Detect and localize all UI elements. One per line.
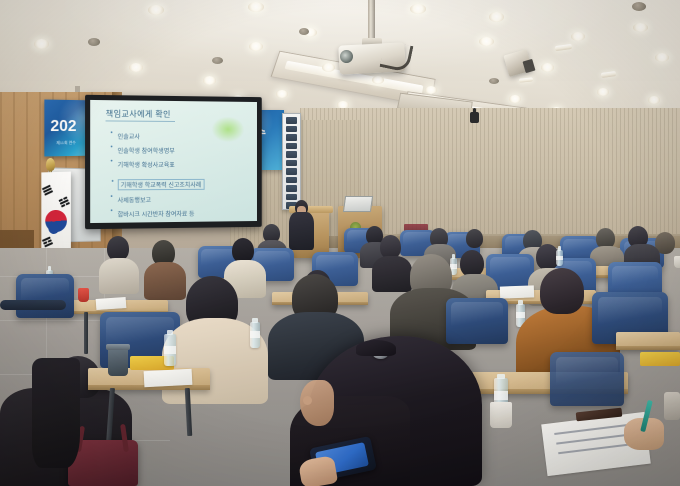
flag-finial bbox=[46, 158, 55, 171]
slide-bullet-list: 인솔교사 인솔학생 참여학생명부 기해학생 확성사교육표 기해학생 학교폭력 신… bbox=[118, 132, 248, 223]
ceiling-downlight bbox=[276, 90, 288, 98]
ceiling-downlight bbox=[372, 76, 384, 84]
attendee-body bbox=[372, 256, 412, 292]
water-bottle bbox=[164, 334, 176, 366]
chair-rail bbox=[0, 300, 66, 310]
ceiling-downlight bbox=[249, 42, 263, 51]
chair[interactable] bbox=[16, 274, 74, 318]
ceiling-downlight bbox=[541, 63, 554, 72]
attendee-head bbox=[540, 268, 584, 314]
cup-lid bbox=[106, 344, 130, 350]
ceiling-speaker bbox=[299, 28, 309, 35]
ceiling-speaker bbox=[212, 57, 223, 64]
ceiling-downlight bbox=[129, 63, 143, 72]
chair[interactable] bbox=[550, 352, 624, 406]
snack-pack bbox=[640, 352, 680, 366]
cup bbox=[674, 256, 680, 268]
tablet-desk bbox=[616, 332, 680, 350]
chair[interactable] bbox=[446, 298, 508, 344]
ceiling-downlight bbox=[203, 76, 216, 85]
slide-bullet: 인솔학생 참여학생명부 bbox=[118, 146, 248, 155]
paper-handout bbox=[144, 369, 193, 387]
ceiling-speaker bbox=[632, 2, 646, 11]
paper-handout bbox=[500, 285, 534, 298]
water-bottle bbox=[556, 250, 563, 266]
laptop bbox=[343, 196, 373, 212]
slide-bullet: 기해학생 확성사교육표 bbox=[118, 160, 248, 169]
attendee-head bbox=[466, 229, 483, 248]
paper-handout bbox=[96, 297, 127, 310]
slide-bullet: 사제동행보고 bbox=[118, 195, 248, 205]
attendee-body bbox=[144, 262, 186, 300]
attendee-head bbox=[460, 250, 484, 277]
ceiling-downlight bbox=[648, 96, 660, 104]
water-bottle bbox=[250, 322, 260, 348]
slide-bullet: 인솔교사 bbox=[118, 132, 248, 142]
trigram-gam-icon bbox=[59, 196, 71, 208]
ceiling-downlight bbox=[248, 2, 264, 12]
ceiling-downlight bbox=[633, 23, 648, 32]
ceiling-downlight bbox=[597, 88, 609, 96]
ear bbox=[303, 396, 312, 405]
ceiling-downlight bbox=[489, 12, 504, 22]
vertical-banner bbox=[282, 113, 301, 210]
taeguk-circle-icon bbox=[41, 206, 70, 236]
ceiling-downlight bbox=[148, 5, 164, 15]
slide-bullet: 기해학생 학교폭력 신고조치사례 bbox=[118, 179, 204, 190]
slide-title: 책임교사에게 확인 bbox=[106, 109, 171, 121]
ceiling-downlight bbox=[509, 95, 521, 103]
ceiling-downlight bbox=[655, 53, 669, 62]
ceiling-downlight bbox=[322, 63, 335, 72]
lecture-hall-photo: 202 제11회 연수 연수 안내 책임교사에게 확인 인솔교사 인솔학생 참여… bbox=[0, 0, 680, 486]
slide-bullet: 합바시크 시간반자 참여자료 등 bbox=[118, 209, 248, 219]
projection-screen: 책임교사에게 확인 인솔교사 인솔학생 참여학생명부 기해학생 확성사교육표 기… bbox=[90, 100, 257, 223]
ceiling-downlight bbox=[410, 4, 426, 14]
wall-camera-icon bbox=[470, 112, 479, 123]
cup bbox=[78, 288, 89, 302]
ceiling-speaker bbox=[88, 38, 100, 46]
item-on-desk bbox=[664, 392, 680, 420]
attendee-body bbox=[99, 258, 139, 294]
coffee-cup bbox=[108, 348, 128, 376]
ceiling-downlight bbox=[34, 39, 49, 49]
banner-left-subtitle: 제11회 연수 bbox=[56, 140, 76, 146]
cup bbox=[490, 402, 512, 428]
banner-left-year: 202 bbox=[50, 118, 76, 136]
camera-mount bbox=[473, 108, 476, 113]
ceiling-downlight bbox=[571, 32, 585, 41]
presenter-body bbox=[289, 212, 314, 250]
projection-screen-frame: 책임교사에게 확인 인솔교사 인솔학생 참여학생명부 기해학생 확성사교육표 기… bbox=[85, 95, 262, 229]
trigram-geon-icon bbox=[42, 185, 54, 197]
ceiling-downlight bbox=[425, 86, 437, 94]
desk-leg bbox=[84, 312, 88, 354]
draped-coat bbox=[32, 358, 80, 468]
ceiling-speaker bbox=[489, 78, 499, 84]
trigram-ri-icon bbox=[42, 237, 54, 249]
ceiling-downlight bbox=[479, 37, 494, 46]
hair-tie bbox=[356, 340, 396, 356]
